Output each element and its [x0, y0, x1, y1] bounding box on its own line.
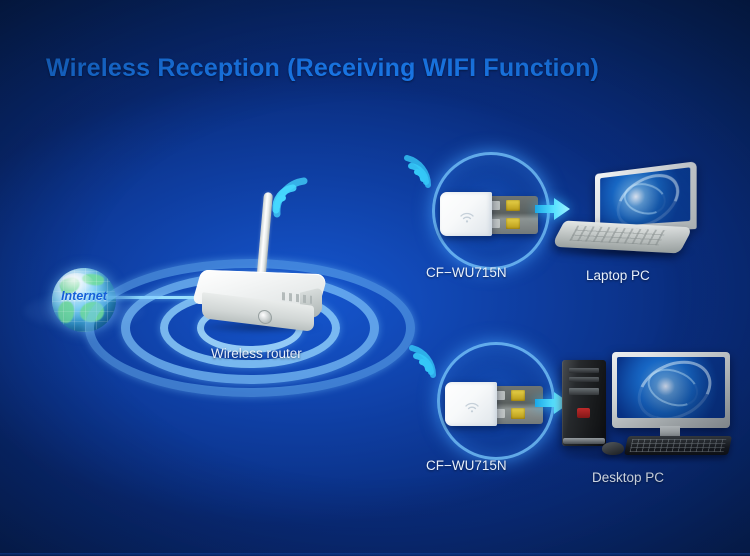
tower-base — [563, 438, 605, 444]
drive-bay — [569, 368, 599, 373]
wireless-router-icon — [196, 272, 324, 332]
desktop-pc-icon — [556, 352, 732, 460]
desktop-label: Desktop PC — [592, 470, 664, 485]
laptop-screen — [600, 167, 690, 227]
internet-label: Internet — [48, 289, 120, 303]
laptop-icon — [556, 168, 704, 260]
pc-monitor — [612, 352, 730, 428]
adapter-label-laptop: CF−WU715N — [426, 265, 507, 280]
router-label: Wireless router — [211, 346, 302, 361]
adapter-wifi-emblem-icon — [458, 210, 476, 224]
monitor-screen — [617, 357, 725, 418]
usb-notch — [496, 391, 505, 400]
adapter-housing — [445, 382, 497, 426]
keyboard-keys — [630, 439, 727, 452]
usb-connector — [490, 196, 538, 234]
pc-tower — [562, 360, 606, 446]
usb-contact-pad — [506, 218, 520, 229]
usb-contact-pad — [511, 408, 525, 419]
adapter-wifi-emblem-icon — [463, 400, 481, 414]
usb-contact-pad — [506, 200, 520, 211]
usb-wifi-adapter-icon — [432, 152, 550, 270]
pc-mouse — [602, 442, 624, 455]
adapter-label-desktop: CF−WU715N — [426, 458, 507, 473]
optical-drive — [569, 388, 599, 395]
wifi-signal-icon — [271, 176, 317, 216]
tower-logo — [577, 408, 590, 418]
usb-notch — [496, 409, 505, 418]
usb-notch — [491, 219, 500, 228]
wireless-reception-diagram: Wireless Reception (Receiving WIFI Funct… — [0, 0, 750, 556]
laptop-label: Laptop PC — [586, 268, 650, 283]
usb-contact-pad — [511, 390, 525, 401]
adapter-housing — [440, 192, 492, 236]
page-title: Wireless Reception (Receiving WIFI Funct… — [46, 54, 599, 83]
drive-bay — [569, 377, 599, 382]
usb-notch — [491, 201, 500, 210]
pc-keyboard — [624, 436, 732, 455]
